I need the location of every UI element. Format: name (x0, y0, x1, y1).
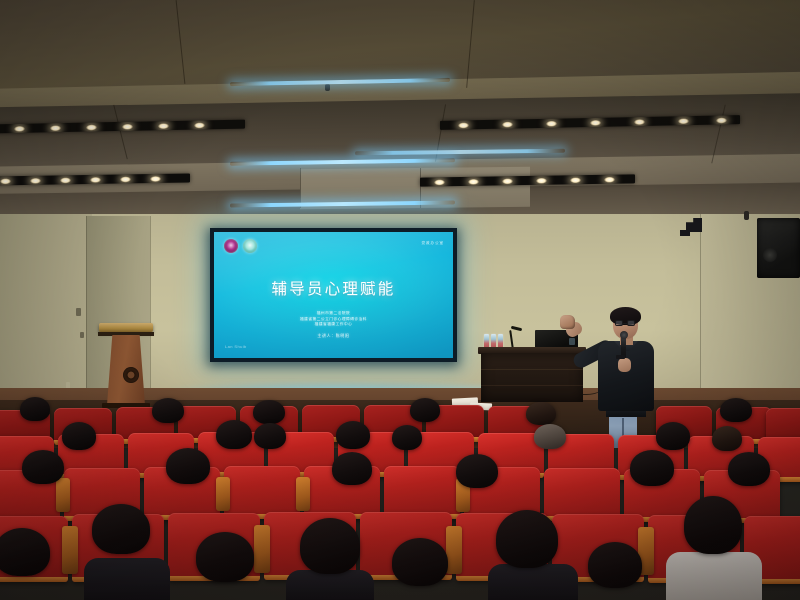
slide-subtitle: 福州市第二法院院 福建省第二公立门诊心理障碍诊治科 福建省福康工作中心 (214, 311, 453, 328)
audience-shoulders (84, 558, 170, 600)
wall-seam-right (700, 214, 701, 410)
slide-logos (224, 239, 257, 253)
audience-head (684, 496, 742, 554)
ceiling-microphone-icon (744, 211, 749, 220)
audience-head (22, 450, 64, 484)
slide-corner-label: 党政办公室 (422, 241, 444, 246)
audience-head (712, 426, 742, 451)
audience-seating (0, 392, 800, 600)
slide-watermark: Lan Shuib (225, 344, 247, 349)
audience-head (496, 510, 558, 568)
seat-armrest (56, 478, 70, 512)
audience-head (630, 450, 674, 486)
audience-head (720, 398, 752, 422)
audience-shoulders (666, 552, 762, 600)
audience-head (456, 454, 498, 488)
slide-title: 辅导员心理赋能 (214, 277, 453, 299)
wall-seam-left (86, 216, 87, 412)
hospital-emblem-icon (243, 239, 257, 253)
audience-head (588, 542, 642, 588)
audience-head (152, 398, 184, 423)
slide-subtitle-line: 福建省福康工作中心 (214, 322, 453, 328)
seat-armrest (446, 526, 462, 574)
wristwatch-icon (616, 355, 625, 359)
auditorium-photo: 党政办公室 辅导员心理赋能 福州市第二法院院 福建省第二公立门诊心理障碍诊治科 … (0, 0, 800, 600)
audience-head (392, 425, 422, 450)
wall-switch-plate-2 (80, 332, 84, 338)
audience-head (336, 421, 370, 449)
audience-head (92, 504, 150, 554)
audience-head (166, 448, 210, 484)
audience-head (410, 398, 440, 422)
audience-head (196, 532, 254, 582)
audience-head (0, 528, 50, 576)
wall-switch-plate-1 (76, 308, 81, 316)
audience-head (253, 400, 285, 424)
glasses-icon (615, 320, 637, 326)
seat-armrest (216, 477, 230, 511)
audience-head (728, 452, 770, 486)
audience-head (216, 420, 252, 449)
slide-presenter: 主讲人：陈明阳 (214, 333, 453, 339)
university-emblem-icon (224, 239, 238, 253)
seat-armrest (62, 526, 78, 574)
ceiling-sprinkler (325, 84, 330, 91)
audience-head (526, 402, 556, 425)
audience-head (20, 397, 50, 421)
presenter-fist (560, 315, 575, 329)
projection-screen-frame: 党政办公室 辅导员心理赋能 福州市第二法院院 福建省第二公立门诊心理障碍诊治科 … (210, 228, 457, 362)
podium-emblem-icon (123, 367, 139, 383)
audience-head (332, 452, 372, 485)
wall-seam-left-2 (150, 216, 151, 406)
seat-armrest (296, 477, 310, 511)
seat-armrest (254, 525, 270, 573)
podium-top-surface (99, 323, 153, 332)
presenter-hand (618, 358, 631, 372)
audience-head (392, 538, 448, 586)
audience-head (254, 423, 286, 449)
audience-head (62, 422, 96, 450)
ceiling (0, 0, 800, 232)
audience-head (656, 422, 690, 450)
projected-slide: 党政办公室 辅导员心理赋能 福州市第二法院院 福建省第二公立门诊心理障碍诊治科 … (214, 232, 453, 358)
audience-shoulders (286, 570, 374, 600)
audience-head (300, 518, 360, 574)
wall-bracket-arm-icon (680, 230, 690, 236)
audience-shoulders (488, 564, 578, 600)
wall-speaker (757, 218, 800, 278)
audience-head (534, 424, 566, 449)
left-podium (102, 323, 150, 403)
